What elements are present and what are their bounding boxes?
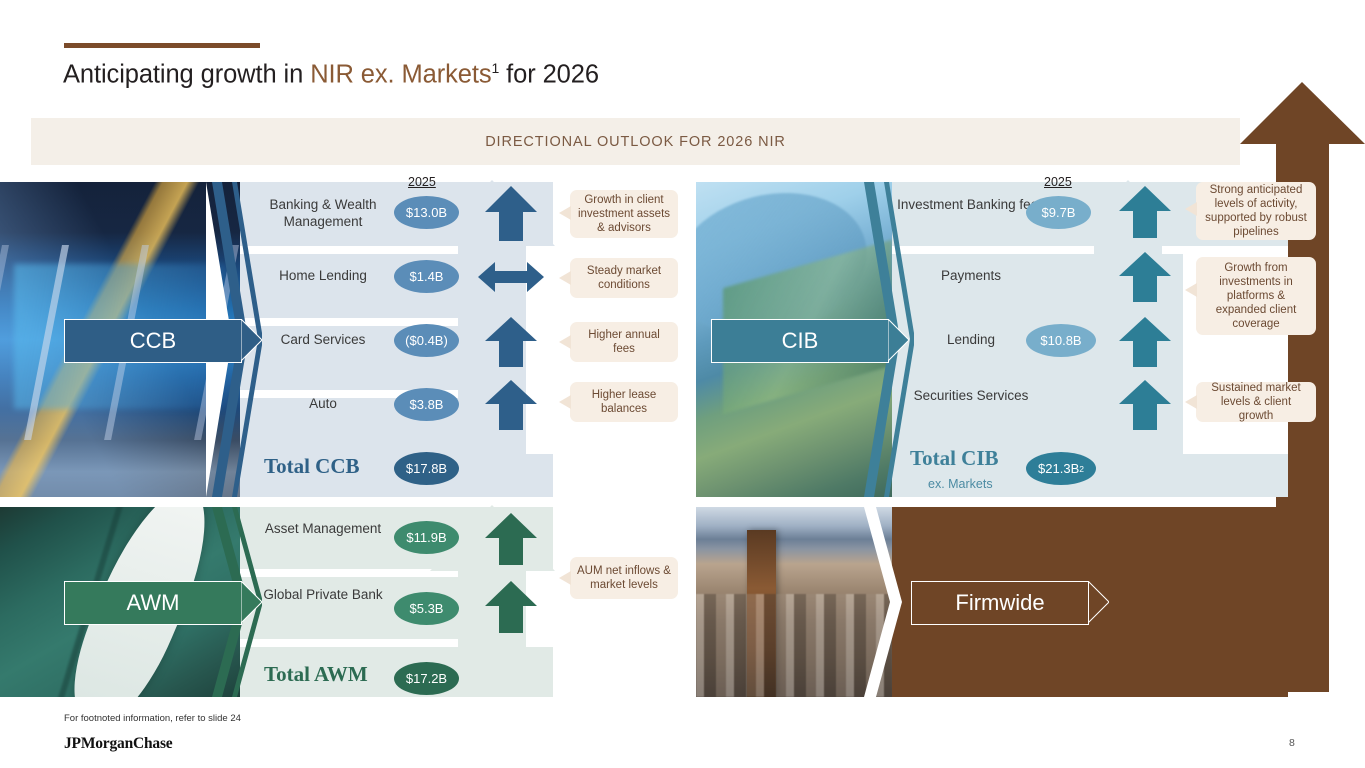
- ccb-callout: Steady market conditions: [570, 258, 678, 298]
- firmwide-segment-plate: Firmwide: [911, 581, 1089, 625]
- ccb-callout-text: Growth in client investment assets & adv…: [577, 193, 671, 235]
- cib-row-label: Payments: [896, 268, 1046, 285]
- ccb-panel: 2025 Banking & Wealth Management $13.0B …: [0, 182, 553, 497]
- plate-tip: [241, 581, 262, 623]
- ccb-callout-text: Higher annual fees: [577, 328, 671, 356]
- ccb-row-label: Home Lending: [248, 268, 398, 285]
- cib-row-value: $10.8B: [1026, 324, 1096, 357]
- cib-segment-plate: CIB: [711, 319, 889, 363]
- ccb-plate-label: CCB: [130, 328, 176, 354]
- cib-row-label: Securities Services: [896, 388, 1046, 405]
- awm-row-label: Global Private Bank: [248, 587, 398, 604]
- arrow-head: [1240, 82, 1365, 144]
- slide-canvas: Anticipating growth in NIR ex. Markets1 …: [0, 0, 1365, 768]
- awm-row-label: Asset Management: [248, 521, 398, 538]
- directional-outlook-banner: DIRECTIONAL OUTLOOK FOR 2026 NIR: [31, 118, 1240, 165]
- awm-up-arrow: [485, 513, 537, 565]
- cib-year-header: 2025: [1044, 175, 1072, 189]
- ccb-row-value: $13.0B: [394, 196, 459, 229]
- cib-total-value-text: $21.3B: [1038, 461, 1079, 476]
- cib-callout-text: Strong anticipated levels of activity, s…: [1203, 183, 1309, 239]
- cib-row-value: $9.7B: [1026, 196, 1091, 229]
- cib-total-label: Total CIB: [910, 446, 999, 471]
- plate-tip: [888, 319, 909, 361]
- firmwide-chevron-divider: [858, 507, 914, 697]
- page-title: Anticipating growth in NIR ex. Markets1 …: [63, 60, 599, 90]
- ccb-row-label: Banking & Wealth Management: [248, 197, 398, 230]
- ccb-segment-plate: CCB: [64, 319, 242, 363]
- ccb-total-label: Total CCB: [264, 454, 360, 479]
- awm-callout-text: AUM net inflows & market levels: [577, 564, 671, 592]
- banner-label: DIRECTIONAL OUTLOOK FOR 2026 NIR: [31, 118, 1240, 165]
- cib-up-arrow: [1119, 252, 1171, 302]
- ccb-callout-text: Steady market conditions: [577, 264, 671, 292]
- ccb-callout: Growth in client investment assets & adv…: [570, 190, 678, 238]
- awm-panel: Asset Management $11.9B AUM net inflows …: [0, 507, 553, 697]
- cib-callout-text: Growth from investments in platforms & e…: [1203, 261, 1309, 331]
- ccb-up-arrow: [485, 317, 537, 367]
- firmwide-panel: Firmwide: [696, 507, 1288, 697]
- cib-total-sublabel: ex. Markets: [928, 477, 993, 491]
- cib-callout: Strong anticipated levels of activity, s…: [1196, 182, 1316, 240]
- ccb-row-value: ($0.4B): [394, 324, 459, 357]
- cib-up-arrow: [1119, 317, 1171, 367]
- awm-total-label: Total AWM: [264, 662, 368, 687]
- cib-total-footnote-marker: 2: [1079, 464, 1084, 474]
- cib-row-label: Lending: [896, 332, 1046, 349]
- awm-row-value: $11.9B: [394, 521, 459, 554]
- plate-tip: [1088, 581, 1109, 623]
- ccb-callout: Higher lease balances: [570, 382, 678, 422]
- plate-tip: [241, 319, 262, 361]
- cib-panel: 2025 Investment Banking fees $9.7B Stron…: [696, 182, 1288, 497]
- cib-callout-text: Sustained market levels & client growth: [1203, 381, 1309, 423]
- ccb-up-arrow: [485, 380, 537, 430]
- ccb-up-arrow: [485, 186, 537, 241]
- awm-callout: AUM net inflows & market levels: [570, 557, 678, 599]
- cib-callout: Growth from investments in platforms & e…: [1196, 257, 1316, 335]
- footnote-text: For footnoted information, refer to slid…: [64, 713, 241, 724]
- title-highlight: NIR ex. Markets: [310, 61, 491, 89]
- awm-row-value: $5.3B: [394, 592, 459, 625]
- title-accent-rule: [64, 43, 260, 48]
- cib-row-label: Investment Banking fees: [896, 197, 1046, 214]
- jpmorganchase-logo: JPMorganChase: [64, 735, 172, 753]
- page-number: 8: [1289, 737, 1295, 749]
- ccb-row-label: Card Services: [248, 332, 398, 349]
- awm-plate-label: AWM: [127, 590, 180, 616]
- awm-segment-plate: AWM: [64, 581, 242, 625]
- cib-up-arrow: [1119, 186, 1171, 238]
- title-part-before: Anticipating growth in: [63, 61, 310, 89]
- ccb-year-header: 2025: [408, 175, 436, 189]
- cib-plate-label: CIB: [782, 328, 819, 354]
- firmwide-plate-label: Firmwide: [955, 590, 1044, 616]
- cib-up-arrow: [1119, 380, 1171, 430]
- ccb-total-value: $17.8B: [394, 452, 459, 485]
- ccb-row-label: Auto: [248, 396, 398, 413]
- cib-callout: Sustained market levels & client growth: [1196, 382, 1316, 422]
- ccb-callout: Higher annual fees: [570, 322, 678, 362]
- ccb-row-value: $1.4B: [394, 260, 459, 293]
- cib-total-value: $21.3B2: [1026, 452, 1096, 485]
- awm-total-value: $17.2B: [394, 662, 459, 695]
- ccb-callout-text: Higher lease balances: [577, 388, 671, 416]
- awm-up-arrow: [485, 581, 537, 633]
- title-part-after: for 2026: [499, 61, 599, 89]
- ccb-flat-arrow: [478, 262, 544, 292]
- ccb-row-value: $3.8B: [394, 388, 459, 421]
